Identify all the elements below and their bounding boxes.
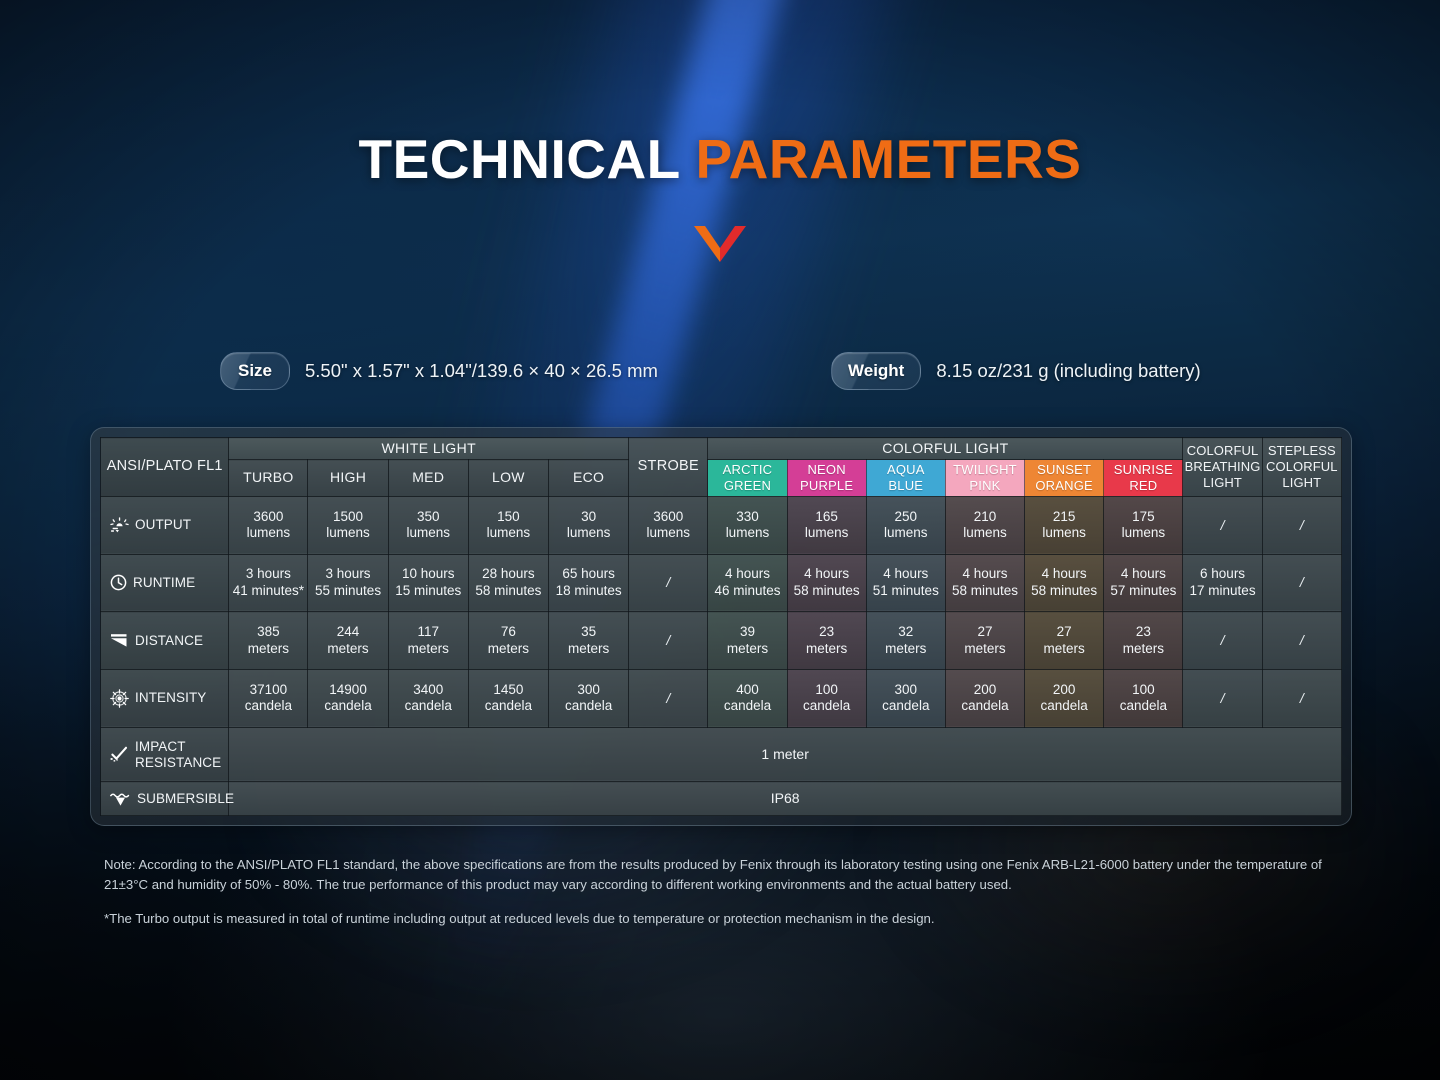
spec-table: ANSI/PLATO FL1 WHITE LIGHT STROBE COLORF… (100, 437, 1342, 816)
cell-intensity-aqua-blue: 300 candela (866, 669, 945, 727)
clock-icon (110, 574, 127, 591)
beam-distance-icon (110, 633, 129, 649)
table-row-submersible: SUBMERSIBLE IP68 (101, 782, 1342, 816)
cell-runtime-low: 28 hours 58 minutes (468, 554, 548, 612)
cell-intensity-stepless: / (1262, 669, 1341, 727)
cell-intensity-sunset-orange: 200 candela (1025, 669, 1104, 727)
cell-submersible-value: IP68 (229, 782, 1342, 816)
page-title: TECHNICAL PARAMETERS (0, 131, 1440, 189)
cell-output-stepless: / (1262, 496, 1341, 554)
cell-intensity-breathing: / (1183, 669, 1262, 727)
table-row-impact-resistance: IMPACT RESISTANCE 1 meter (101, 727, 1342, 782)
cell-runtime-strobe: / (629, 554, 708, 612)
table-header: ANSI/PLATO FL1 WHITE LIGHT STROBE COLORF… (101, 438, 1342, 497)
mode-arctic-green: ARCTIC GREEN (708, 460, 787, 497)
cell-runtime-high: 3 hours 55 minutes (308, 554, 388, 612)
mode-high: HIGH (308, 460, 388, 497)
cell-runtime-twilight-pink: 4 hours 58 minutes (945, 554, 1024, 612)
footnote-turbo: *The Turbo output is measured in total o… (104, 909, 1344, 929)
cell-output-aqua-blue: 250 lumens (866, 496, 945, 554)
cell-runtime-stepless: / (1262, 554, 1341, 612)
size-pill-label: Size (220, 352, 290, 390)
cell-distance-neon-purple: 23 meters (787, 612, 866, 670)
table-row-runtime: RUNTIME 3 hours 41 minutes* 3 hours 55 m… (101, 554, 1342, 612)
mode-eco: ECO (548, 460, 628, 497)
cell-distance-sunset-orange: 27 meters (1025, 612, 1104, 670)
cell-output-strobe: 3600 lumens (629, 496, 708, 554)
cell-intensity-twilight-pink: 200 candela (945, 669, 1024, 727)
mode-neon-purple: NEON PURPLE (787, 460, 866, 497)
table-row-distance: DISTANCE 385 meters 244 meters 117 meter… (101, 612, 1342, 670)
checkmark-impact-icon (110, 746, 129, 763)
cell-runtime-sunrise-red: 4 hours 57 minutes (1104, 554, 1183, 612)
cell-output-arctic-green: 330 lumens (708, 496, 787, 554)
cell-runtime-aqua-blue: 4 hours 51 minutes (866, 554, 945, 612)
cell-runtime-sunset-orange: 4 hours 58 minutes (1025, 554, 1104, 612)
cell-distance-aqua-blue: 32 meters (866, 612, 945, 670)
row-label-runtime-text: RUNTIME (133, 575, 195, 591)
table-row-output: OUTPUT 3600 lumens 1500 lumens 350 lumen… (101, 496, 1342, 554)
cell-distance-stepless: / (1262, 612, 1341, 670)
cell-output-turbo: 3600 lumens (229, 496, 308, 554)
water-wave-icon (110, 791, 131, 807)
cell-intensity-turbo: 37100 candela (229, 669, 308, 727)
weight-value: 8.15 oz/231 g (including battery) (936, 360, 1200, 382)
cell-intensity-high: 14900 candela (308, 669, 388, 727)
footnote-ansi: Note: According to the ANSI/PLATO FL1 st… (104, 855, 1344, 896)
cell-output-med: 350 lumens (388, 496, 468, 554)
size-spec: Size 5.50" x 1.57" x 1.04"/139.6 × 40 × … (220, 352, 658, 390)
row-label-submersible-text: SUBMERSIBLE (137, 791, 234, 807)
table-header-row-modes: TURBO HIGH MED LOW ECO ARCTIC GREEN NEON… (101, 460, 1342, 497)
row-label-distance-text: DISTANCE (135, 633, 203, 649)
cell-runtime-med: 10 hours 15 minutes (388, 554, 468, 612)
cell-distance-twilight-pink: 27 meters (945, 612, 1024, 670)
group-stepless-colorful: STEPLESS COLORFUL LIGHT (1262, 438, 1341, 497)
cell-distance-breathing: / (1183, 612, 1262, 670)
mode-med: MED (388, 460, 468, 497)
weight-pill-label: Weight (831, 352, 921, 390)
row-label-impact-resistance: IMPACT RESISTANCE (101, 727, 229, 782)
cell-runtime-eco: 65 hours 18 minutes (548, 554, 628, 612)
group-colorful-light: COLORFUL LIGHT (708, 438, 1183, 460)
group-strobe: STROBE (629, 438, 708, 497)
row-label-impact-resistance-text: IMPACT RESISTANCE (135, 739, 221, 770)
page-title-part2: PARAMETERS (696, 128, 1082, 190)
cell-distance-eco: 35 meters (548, 612, 628, 670)
cell-output-sunrise-red: 175 lumens (1104, 496, 1183, 554)
size-value: 5.50" x 1.57" x 1.04"/139.6 × 40 × 26.5 … (305, 360, 658, 382)
cell-distance-high: 244 meters (308, 612, 388, 670)
cell-distance-strobe: / (629, 612, 708, 670)
group-colorful-breathing: COLORFUL BREATHING LIGHT (1183, 438, 1262, 497)
mode-twilight-pink: TWILIGHT PINK (945, 460, 1024, 497)
cell-distance-turbo: 385 meters (229, 612, 308, 670)
row-label-output-text: OUTPUT (135, 517, 191, 533)
cell-distance-low: 76 meters (468, 612, 548, 670)
cell-distance-arctic-green: 39 meters (708, 612, 787, 670)
cell-output-low: 150 lumens (468, 496, 548, 554)
cell-output-breathing: / (1183, 496, 1262, 554)
corner-label: ANSI/PLATO FL1 (101, 438, 229, 497)
mode-aqua-blue: AQUA BLUE (866, 460, 945, 497)
cell-output-neon-purple: 165 lumens (787, 496, 866, 554)
cell-runtime-neon-purple: 4 hours 58 minutes (787, 554, 866, 612)
cell-intensity-strobe: / (629, 669, 708, 727)
table-body: OUTPUT 3600 lumens 1500 lumens 350 lumen… (101, 496, 1342, 815)
mode-low: LOW (468, 460, 548, 497)
row-label-distance: DISTANCE (101, 612, 229, 670)
cell-intensity-neon-purple: 100 candela (787, 669, 866, 727)
table-header-row-groups: ANSI/PLATO FL1 WHITE LIGHT STROBE COLORF… (101, 438, 1342, 460)
cell-runtime-arctic-green: 4 hours 46 minutes (708, 554, 787, 612)
table-row-intensity: INTENSITY 37100 candela 14900 candela 34… (101, 669, 1342, 727)
cell-intensity-eco: 300 candela (548, 669, 628, 727)
row-label-intensity-text: INTENSITY (135, 690, 206, 706)
spec-summary-line: Size 5.50" x 1.57" x 1.04"/139.6 × 40 × … (0, 352, 1440, 390)
cell-intensity-sunrise-red: 100 candela (1104, 669, 1183, 727)
intensity-starburst-icon (110, 689, 129, 708)
cell-runtime-breathing: 6 hours 17 minutes (1183, 554, 1262, 612)
cell-output-eco: 30 lumens (548, 496, 628, 554)
cell-impact-resistance-value: 1 meter (229, 727, 1342, 782)
cell-distance-med: 117 meters (388, 612, 468, 670)
cell-output-sunset-orange: 215 lumens (1025, 496, 1104, 554)
row-label-output: OUTPUT (101, 496, 229, 554)
cell-output-twilight-pink: 210 lumens (945, 496, 1024, 554)
page-title-part1: TECHNICAL (359, 128, 696, 190)
weight-spec: Weight 8.15 oz/231 g (including battery) (831, 352, 1201, 390)
spec-table-frame: ANSI/PLATO FL1 WHITE LIGHT STROBE COLORF… (90, 427, 1352, 826)
technical-parameters-page: TECHNICAL PARAMETERS Size 5.50" x 1.57" … (0, 0, 1440, 1080)
cell-intensity-med: 3400 candela (388, 669, 468, 727)
group-white-light: WHITE LIGHT (229, 438, 629, 460)
cell-output-high: 1500 lumens (308, 496, 388, 554)
cell-intensity-arctic-green: 400 candela (708, 669, 787, 727)
row-label-runtime: RUNTIME (101, 554, 229, 612)
cell-intensity-low: 1450 candela (468, 669, 548, 727)
mode-turbo: TURBO (229, 460, 308, 497)
chevron-down-icon (692, 222, 748, 264)
row-label-intensity: INTENSITY (101, 669, 229, 727)
cell-runtime-turbo: 3 hours 41 minutes* (229, 554, 308, 612)
mode-sunrise-red: SUNRISE RED (1104, 460, 1183, 497)
footnotes: Note: According to the ANSI/PLATO FL1 st… (104, 855, 1344, 929)
cell-distance-sunrise-red: 23 meters (1104, 612, 1183, 670)
sun-burst-icon (110, 517, 129, 534)
row-label-submersible: SUBMERSIBLE (101, 782, 229, 816)
mode-sunset-orange: SUNSET ORANGE (1025, 460, 1104, 497)
